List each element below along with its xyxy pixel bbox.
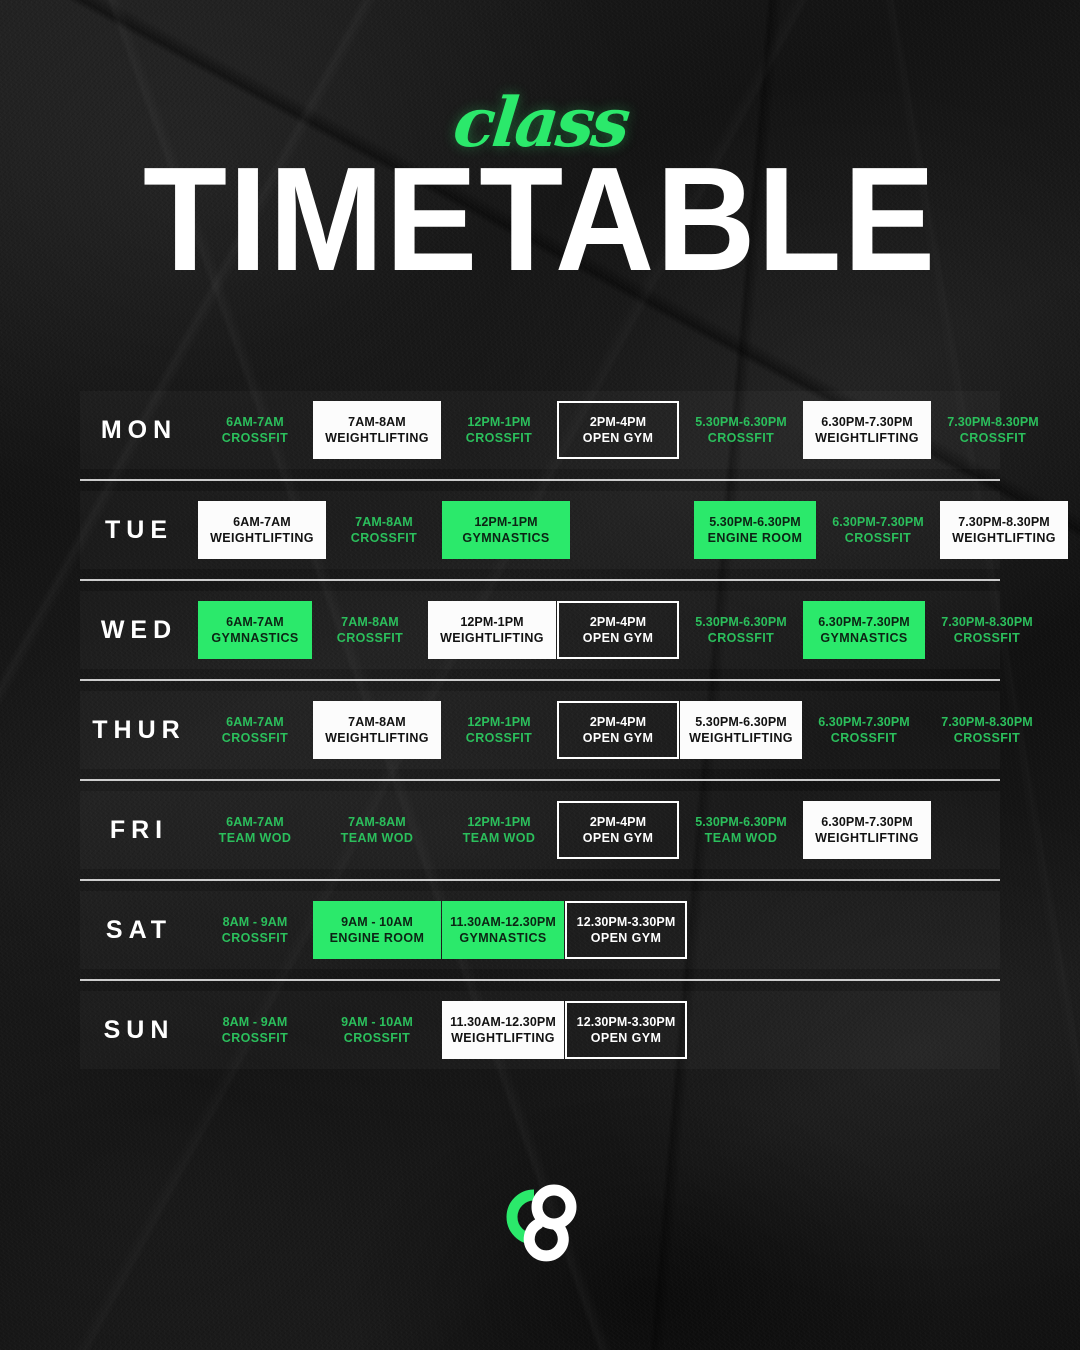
slot-list: 6AM-7AMCROSSFIT7AM-8AMWEIGHTLIFTING12PM-… [198, 701, 1049, 759]
class-slot[interactable]: 2PM-4PMOPEN GYM [557, 701, 679, 759]
slot-class-name: CROSSFIT [845, 530, 911, 547]
class-slot[interactable]: 5.30PM-6.30PMTEAM WOD [680, 801, 802, 859]
slot-class-name: ENGINE ROOM [708, 530, 803, 547]
class-slot[interactable]: 12PM-1PMGYMNASTICS [442, 501, 570, 559]
slot-class-name: CROSSFIT [222, 730, 288, 747]
slot-class-name: CROSSFIT [831, 730, 897, 747]
class-slot[interactable]: 6AM-7AMCROSSFIT [198, 401, 312, 459]
slot-time: 9AM - 10AM [341, 914, 413, 931]
cs-monogram-icon [492, 1177, 588, 1269]
slot-time: 7AM-8AM [348, 814, 406, 831]
class-slot[interactable]: 6.30PM-7.30PMCROSSFIT [803, 701, 925, 759]
class-slot[interactable]: 12PM-1PMTEAM WOD [442, 801, 556, 859]
day-label: THUR [80, 716, 198, 745]
slot-class-name: ENGINE ROOM [330, 930, 425, 947]
slot-class-name: GYMNASTICS [820, 630, 907, 647]
slot-time: 2PM-4PM [590, 414, 646, 431]
slot-time: 5.30PM-6.30PM [709, 514, 801, 531]
slot-time: 6.30PM-7.30PM [832, 514, 924, 531]
slot-class-name: OPEN GYM [583, 730, 654, 747]
class-slot[interactable]: 12.30PM-3.30PMOPEN GYM [565, 1001, 687, 1059]
schedule-row: MON6AM-7AMCROSSFIT7AM-8AMWEIGHTLIFTING12… [80, 391, 1000, 469]
slot-class-name: CROSSFIT [954, 630, 1020, 647]
slot-time: 7.30PM-8.30PM [941, 614, 1033, 631]
slot-time: 5.30PM-6.30PM [695, 614, 787, 631]
slot-time: 8AM - 9AM [223, 1014, 288, 1031]
slot-time: 5.30PM-6.30PM [695, 814, 787, 831]
slot-class-name: WEIGHTLIFTING [689, 730, 793, 747]
slot-class-name: CROSSFIT [466, 730, 532, 747]
row-divider [80, 679, 1000, 681]
slot-time: 9AM - 10AM [341, 1014, 413, 1031]
poster-header: class TIMETABLE [0, 0, 1080, 283]
class-slot[interactable]: 9AM - 10AMCROSSFIT [313, 1001, 441, 1059]
slot-class-name: OPEN GYM [583, 430, 654, 447]
brand-logo [0, 1177, 1080, 1274]
slot-time: 2PM-4PM [590, 614, 646, 631]
slot-class-name: GYMNASTICS [211, 630, 298, 647]
slot-time: 6AM-7AM [226, 714, 284, 731]
schedule-row: WED6AM-7AMGYMNASTICS7AM-8AMCROSSFIT12PM-… [80, 591, 1000, 669]
slot-class-name: WEIGHTLIFTING [815, 430, 919, 447]
day-label: WED [80, 616, 198, 645]
slot-time: 11.30AM-12.30PM [450, 1014, 556, 1031]
class-slot[interactable]: 8AM - 9AMCROSSFIT [198, 901, 312, 959]
slot-time: 7AM-8AM [355, 514, 413, 531]
slot-class-name: WEIGHTLIFTING [952, 530, 1056, 547]
slot-class-name: OPEN GYM [583, 630, 654, 647]
slot-time: 7AM-8AM [348, 414, 406, 431]
class-slot[interactable]: 6AM-7AMWEIGHTLIFTING [198, 501, 326, 559]
slot-time: 6.30PM-7.30PM [818, 714, 910, 731]
class-slot[interactable]: 6.30PM-7.30PMWEIGHTLIFTING [803, 801, 931, 859]
slot-time: 5.30PM-6.30PM [695, 714, 787, 731]
slot-class-name: WEIGHTLIFTING [451, 1030, 555, 1047]
row-divider [80, 879, 1000, 881]
page-title: TIMETABLE [38, 156, 1042, 283]
slot-time: 5.30PM-6.30PM [695, 414, 787, 431]
slot-time: 6AM-7AM [226, 414, 284, 431]
day-label: SUN [80, 1016, 198, 1045]
slot-class-name: CROSSFIT [222, 1030, 288, 1047]
class-slot[interactable]: 12.30PM-3.30PMOPEN GYM [565, 901, 687, 959]
slot-list: 6AM-7AMWEIGHTLIFTING7AM-8AMCROSSFIT12PM-… [198, 501, 1069, 559]
slot-class-name: CROSSFIT [351, 530, 417, 547]
class-slot[interactable]: 6.30PM-7.30PMGYMNASTICS [803, 601, 925, 659]
slot-time: 2PM-4PM [590, 814, 646, 831]
class-slot[interactable]: 7AM-8AMWEIGHTLIFTING [313, 401, 441, 459]
class-slot[interactable]: 8AM - 9AMCROSSFIT [198, 1001, 312, 1059]
slot-list: 6AM-7AMCROSSFIT7AM-8AMWEIGHTLIFTING12PM-… [198, 401, 1055, 459]
class-slot[interactable]: 7AM-8AMWEIGHTLIFTING [313, 701, 441, 759]
slot-class-name: GYMNASTICS [462, 530, 549, 547]
slot-class-name: TEAM WOD [463, 830, 536, 847]
class-slot[interactable]: 6AM-7AMCROSSFIT [198, 701, 312, 759]
class-slot[interactable]: 6.30PM-7.30PMCROSSFIT [817, 501, 939, 559]
schedule-row: SUN8AM - 9AMCROSSFIT9AM - 10AMCROSSFIT11… [80, 991, 1000, 1069]
slot-time: 6AM-7AM [226, 814, 284, 831]
schedule-row: SAT8AM - 9AMCROSSFIT9AM - 10AMENGINE ROO… [80, 891, 1000, 969]
day-label: TUE [80, 516, 198, 545]
slot-time: 7AM-8AM [341, 614, 399, 631]
schedule-row: THUR6AM-7AMCROSSFIT7AM-8AMWEIGHTLIFTING1… [80, 691, 1000, 769]
row-divider [80, 979, 1000, 981]
slot-time: 6.30PM-7.30PM [821, 814, 913, 831]
class-slot[interactable]: 5.30PM-6.30PMENGINE ROOM [694, 501, 816, 559]
slot-time: 12.30PM-3.30PM [577, 914, 676, 931]
class-slot[interactable]: 7.30PM-8.30PMCROSSFIT [926, 701, 1048, 759]
slot-class-name: WEIGHTLIFTING [210, 530, 314, 547]
schedule-row: FRI6AM-7AMTEAM WOD7AM-8AMTEAM WOD12PM-1P… [80, 791, 1000, 869]
slot-time: 7.30PM-8.30PM [958, 514, 1050, 531]
slot-list: 6AM-7AMTEAM WOD7AM-8AMTEAM WOD12PM-1PMTE… [198, 801, 1000, 859]
slot-class-name: WEIGHTLIFTING [325, 730, 429, 747]
slot-class-name: CROSSFIT [960, 430, 1026, 447]
slot-class-name: OPEN GYM [591, 930, 662, 947]
slot-class-name: OPEN GYM [591, 1030, 662, 1047]
class-slot[interactable]: 9AM - 10AMENGINE ROOM [313, 901, 441, 959]
slot-class-name: WEIGHTLIFTING [440, 630, 544, 647]
slot-class-name: WEIGHTLIFTING [325, 430, 429, 447]
slot-class-name: TEAM WOD [341, 830, 414, 847]
class-slot[interactable]: 5.30PM-6.30PMWEIGHTLIFTING [680, 701, 802, 759]
slot-time: 12PM-1PM [467, 414, 530, 431]
class-slot[interactable]: 12PM-1PMCROSSFIT [442, 701, 556, 759]
slot-class-name: TEAM WOD [219, 830, 292, 847]
slot-list: 6AM-7AMGYMNASTICS7AM-8AMCROSSFIT12PM-1PM… [198, 601, 1049, 659]
slot-time: 7AM-8AM [348, 714, 406, 731]
slot-time: 6AM-7AM [226, 614, 284, 631]
class-slot[interactable]: 7AM-8AMCROSSFIT [327, 501, 441, 559]
slot-class-name: GYMNASTICS [459, 930, 546, 947]
slot-class-name: WEIGHTLIFTING [815, 830, 919, 847]
slot-list: 8AM - 9AMCROSSFIT9AM - 10AMCROSSFIT11.30… [198, 1001, 1000, 1059]
class-slot[interactable]: 2PM-4PMOPEN GYM [557, 801, 679, 859]
slot-class-name: TEAM WOD [705, 830, 778, 847]
row-divider [80, 779, 1000, 781]
slot-empty [571, 501, 693, 559]
slot-time: 12PM-1PM [467, 714, 530, 731]
class-slot[interactable]: 11.30AM-12.30PMWEIGHTLIFTING [442, 1001, 564, 1059]
slot-class-name: CROSSFIT [222, 430, 288, 447]
class-slot[interactable]: 7AM-8AMTEAM WOD [313, 801, 441, 859]
slot-time: 12PM-1PM [467, 814, 530, 831]
slot-time: 11.30AM-12.30PM [450, 914, 556, 931]
slot-time: 8AM - 9AM [223, 914, 288, 931]
slot-time: 7.30PM-8.30PM [941, 714, 1033, 731]
slot-list: 8AM - 9AMCROSSFIT9AM - 10AMENGINE ROOM11… [198, 901, 1000, 959]
slot-time: 6.30PM-7.30PM [821, 414, 913, 431]
day-label: SAT [80, 916, 198, 945]
class-slot[interactable]: 12PM-1PMCROSSFIT [442, 401, 556, 459]
class-slot[interactable]: 2PM-4PMOPEN GYM [557, 401, 679, 459]
slot-class-name: CROSSFIT [344, 1030, 410, 1047]
class-slot[interactable]: 7AM-8AMCROSSFIT [313, 601, 427, 659]
class-slot[interactable]: 6AM-7AMGYMNASTICS [198, 601, 312, 659]
class-slot[interactable]: 7.30PM-8.30PMCROSSFIT [926, 601, 1048, 659]
day-label: FRI [80, 816, 198, 845]
slot-class-name: CROSSFIT [708, 630, 774, 647]
class-slot[interactable]: 7.30PM-8.30PMWEIGHTLIFTING [940, 501, 1068, 559]
class-slot[interactable]: 11.30AM-12.30PMGYMNASTICS [442, 901, 564, 959]
slot-class-name: CROSSFIT [337, 630, 403, 647]
day-label: MON [80, 416, 198, 445]
schedule-table: MON6AM-7AMCROSSFIT7AM-8AMWEIGHTLIFTING12… [0, 391, 1080, 1069]
row-divider [80, 479, 1000, 481]
slot-class-name: CROSSFIT [708, 430, 774, 447]
row-divider [80, 579, 1000, 581]
class-slot[interactable]: 6AM-7AMTEAM WOD [198, 801, 312, 859]
slot-time: 12PM-1PM [474, 514, 537, 531]
timetable-poster: class TIMETABLE MON6AM-7AMCROSSFIT7AM-8A… [0, 0, 1080, 1350]
slot-time: 7.30PM-8.30PM [947, 414, 1039, 431]
slot-class-name: OPEN GYM [583, 830, 654, 847]
slot-class-name: CROSSFIT [954, 730, 1020, 747]
slot-time: 12PM-1PM [460, 614, 523, 631]
class-slot[interactable]: 12PM-1PMWEIGHTLIFTING [428, 601, 556, 659]
class-slot[interactable]: 5.30PM-6.30PMCROSSFIT [680, 401, 802, 459]
slot-time: 2PM-4PM [590, 714, 646, 731]
slot-time: 6.30PM-7.30PM [818, 614, 910, 631]
slot-time: 12.30PM-3.30PM [577, 1014, 676, 1031]
class-slot[interactable]: 5.30PM-6.30PMCROSSFIT [680, 601, 802, 659]
schedule-row: TUE6AM-7AMWEIGHTLIFTING7AM-8AMCROSSFIT12… [80, 491, 1000, 569]
slot-time: 6AM-7AM [233, 514, 291, 531]
slot-class-name: CROSSFIT [222, 930, 288, 947]
class-slot[interactable]: 6.30PM-7.30PMWEIGHTLIFTING [803, 401, 931, 459]
class-slot[interactable]: 7.30PM-8.30PMCROSSFIT [932, 401, 1054, 459]
slot-class-name: CROSSFIT [466, 430, 532, 447]
class-slot[interactable]: 2PM-4PMOPEN GYM [557, 601, 679, 659]
